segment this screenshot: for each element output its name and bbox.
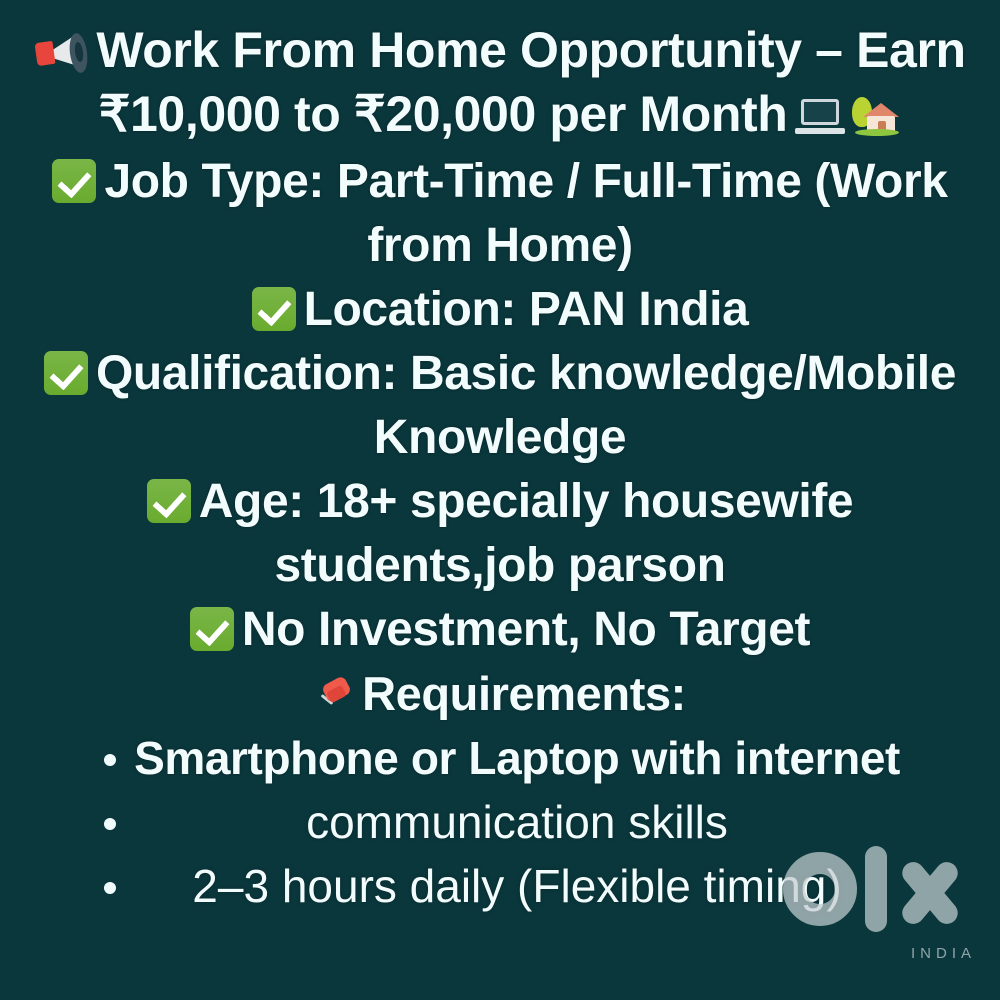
white-check-mark-icon — [52, 159, 96, 203]
feature-age: Age: 18+ specially housewife students,jo… — [26, 470, 974, 598]
feature-no-investment: No Investment, No Target — [26, 598, 974, 662]
bullet-dot-icon — [104, 882, 116, 894]
feature-qualification-label: Qualification: Basic knowledge/Mobile Kn… — [96, 347, 956, 464]
bullet-dot-icon — [104, 818, 116, 830]
feature-location: Location: PAN India — [26, 278, 974, 342]
ad-text-body: Work From Home Opportunity – Earn ₹10,00… — [0, 0, 1000, 918]
requirement-item-3-label: 2–3 hours daily (Flexible timing) — [158, 854, 841, 918]
requirement-item-2: communication skills — [26, 790, 974, 854]
house-with-garden-icon — [851, 97, 901, 137]
requirement-item-1-label: Smartphone or Laptop with internet — [100, 726, 900, 790]
feature-location-label: Location: PAN India — [304, 283, 749, 336]
requirements-heading: Requirements: — [26, 662, 974, 726]
feature-qualification: Qualification: Basic knowledge/Mobile Kn… — [26, 342, 974, 470]
white-check-mark-icon — [252, 287, 296, 331]
megaphone-icon — [34, 31, 90, 75]
requirement-item-3: 2–3 hours daily (Flexible timing) — [26, 854, 974, 918]
requirement-item-2-label: communication skills — [272, 790, 728, 854]
white-check-mark-icon — [147, 479, 191, 523]
olx-region-label: INDIA — [911, 945, 976, 962]
white-check-mark-icon — [190, 607, 234, 651]
feature-no-investment-label: No Investment, No Target — [242, 603, 810, 656]
job-advertisement-poster: Work From Home Opportunity – Earn ₹10,00… — [0, 0, 1000, 1000]
white-check-mark-icon — [44, 351, 88, 395]
headline: Work From Home Opportunity – Earn ₹10,00… — [26, 18, 974, 146]
feature-job-type-label: Job Type: Part-Time / Full-Time (Work fr… — [104, 155, 947, 272]
laptop-icon — [795, 98, 845, 136]
pushpin-icon — [314, 676, 356, 718]
requirements-heading-label: Requirements: — [362, 667, 686, 720]
requirement-item-1: Smartphone or Laptop with internet — [26, 726, 974, 790]
feature-age-label: Age: 18+ specially housewife students,jo… — [199, 475, 853, 592]
bullet-dot-icon — [104, 754, 116, 766]
feature-job-type: Job Type: Part-Time / Full-Time (Work fr… — [26, 150, 974, 278]
